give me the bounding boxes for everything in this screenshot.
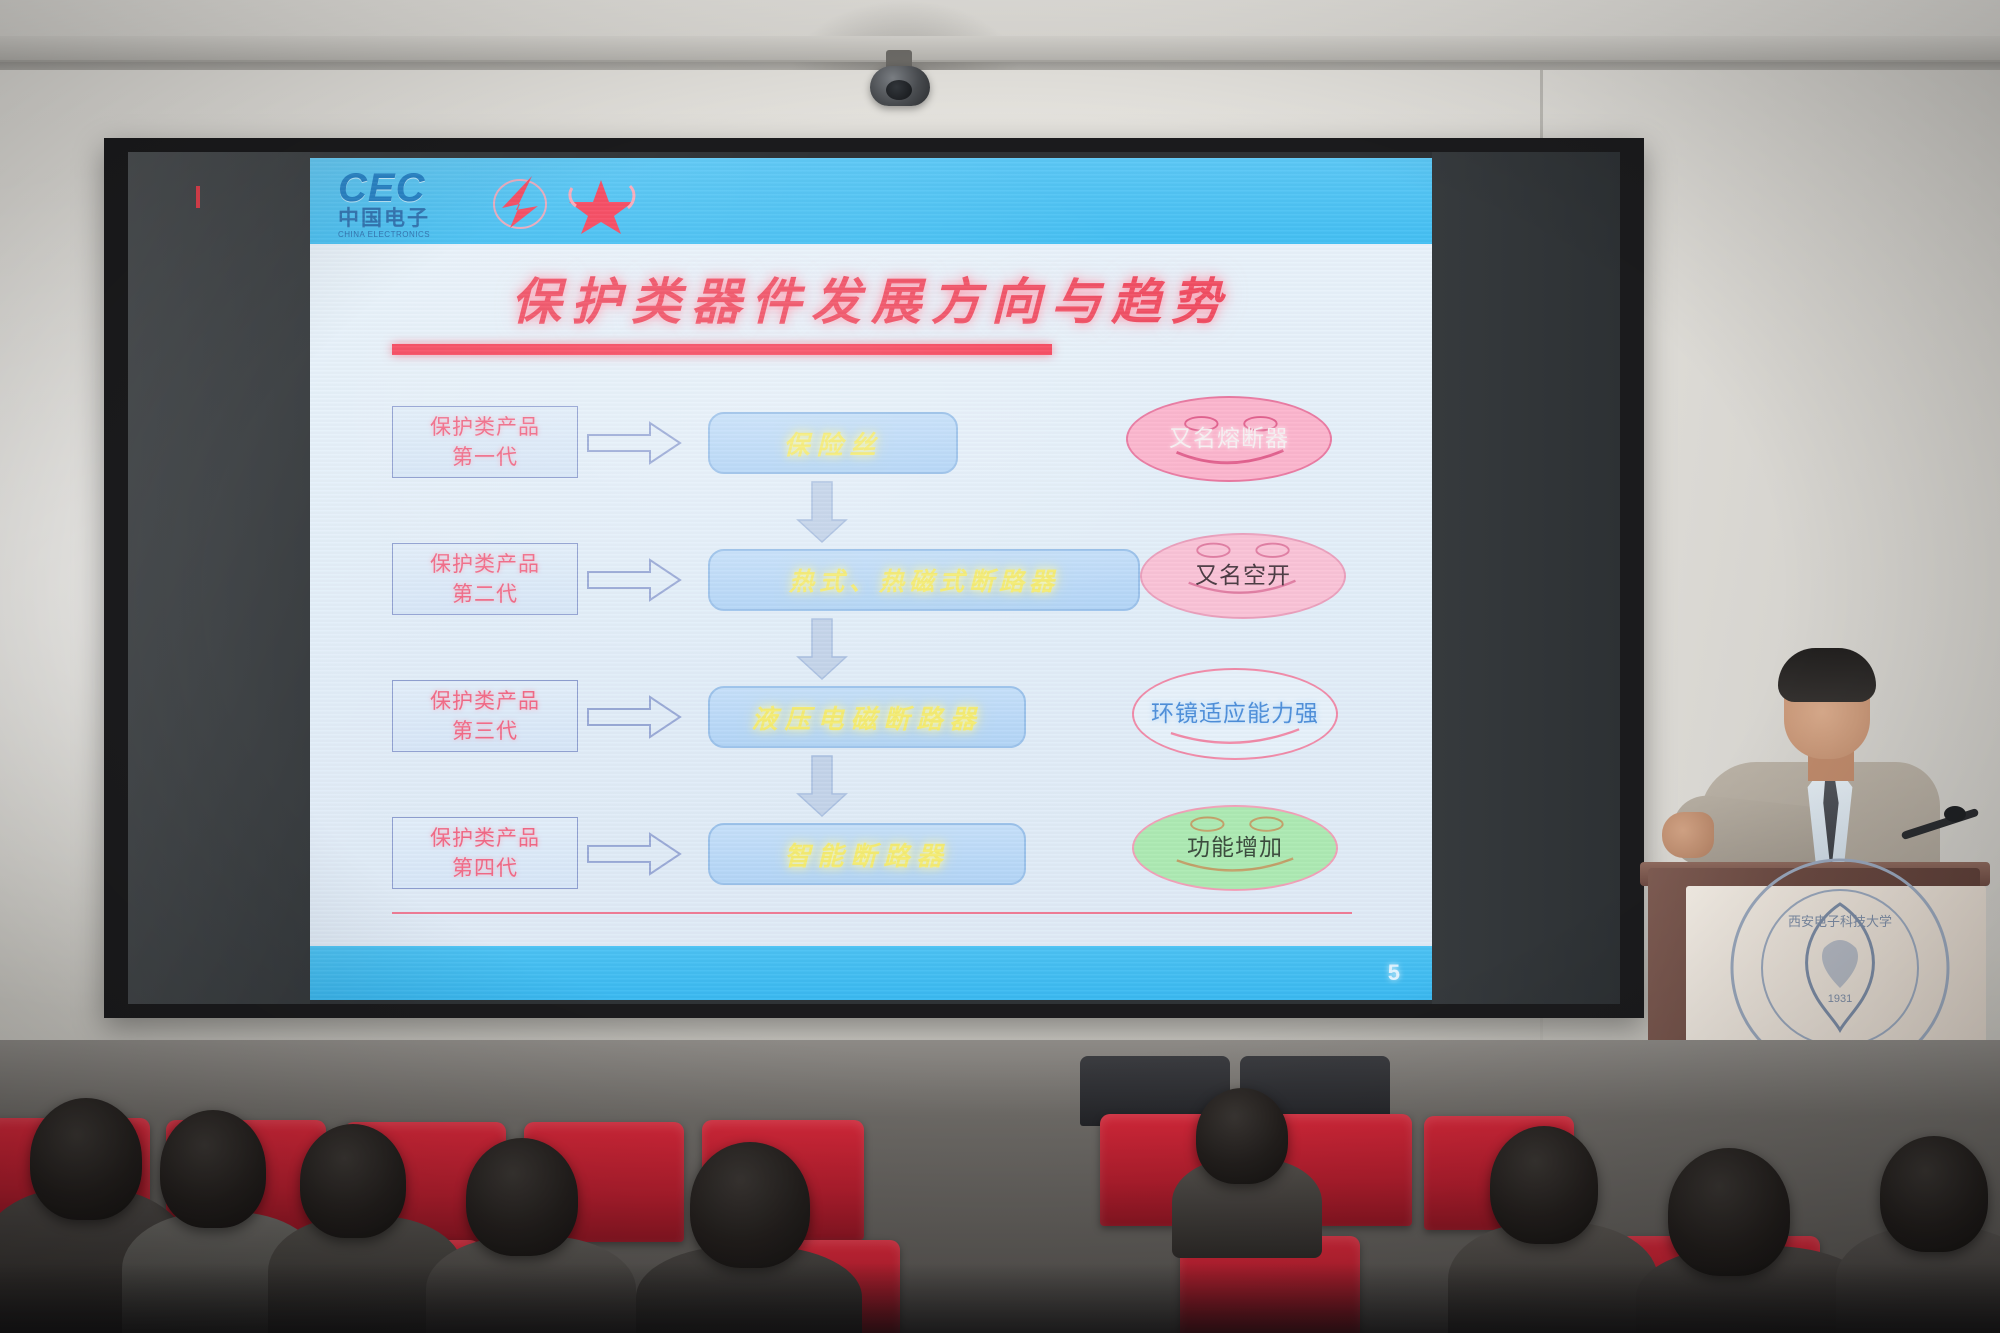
audience-head bbox=[1880, 1136, 1988, 1252]
cec-abbreviation: CEC bbox=[338, 168, 488, 208]
audience-head bbox=[300, 1124, 406, 1238]
cec-logo: CEC 中国电子 CHINA ELECTRONICS bbox=[338, 168, 488, 240]
stage-1-label: 保险丝 bbox=[783, 425, 882, 462]
audience-head bbox=[1668, 1148, 1790, 1276]
callout-3-label: 环镜适应能力强 bbox=[1151, 699, 1319, 729]
stage-box-1: 保险丝 bbox=[708, 412, 958, 474]
stage-2-label: 热式、热磁式断路器 bbox=[789, 562, 1059, 598]
presenter-hand bbox=[1662, 812, 1714, 858]
callout-1-label: 又名熔断器 bbox=[1169, 424, 1289, 454]
svg-text:西安电子科技大学: 西安电子科技大学 bbox=[1788, 914, 1892, 930]
screen-margin-left bbox=[128, 152, 310, 1004]
slide-bottom-rule bbox=[392, 912, 1352, 914]
generation-4-line1: 保护类产品 bbox=[430, 823, 540, 853]
slide-page-number: 5 bbox=[1388, 960, 1400, 986]
arrow-right-2-icon bbox=[586, 557, 682, 603]
lecture-hall-scene: CEC 中国电子 CHINA ELECTRONICS 保护类器件发展方向与趋势 … bbox=[0, 0, 2000, 1333]
audience-head bbox=[1196, 1088, 1288, 1184]
callout-2-label: 又名空开 bbox=[1195, 561, 1291, 591]
audience-head bbox=[466, 1138, 578, 1256]
stage-box-2: 热式、热磁式断路器 bbox=[708, 549, 1140, 611]
stage-4-label: 智能断路器 bbox=[784, 836, 949, 873]
generation-1-line2: 第一代 bbox=[452, 442, 518, 472]
generation-box-2: 保护类产品 第二代 bbox=[392, 543, 578, 615]
audience-head bbox=[30, 1098, 142, 1220]
generation-4-line2: 第四代 bbox=[452, 853, 518, 883]
stage-box-3: 液压电磁断路器 bbox=[708, 686, 1026, 748]
stage-3-label: 液压电磁断路器 bbox=[751, 699, 982, 736]
swoosh-logo-icon bbox=[486, 170, 564, 232]
screen-red-marker bbox=[196, 186, 200, 208]
arrow-right-4-icon bbox=[586, 831, 682, 877]
presentation-slide: CEC 中国电子 CHINA ELECTRONICS 保护类器件发展方向与趋势 … bbox=[310, 158, 1432, 1000]
generation-box-3: 保护类产品 第三代 bbox=[392, 680, 578, 752]
ceiling-beam bbox=[0, 36, 2000, 62]
title-underline-rule bbox=[392, 344, 1052, 355]
svg-text:1931: 1931 bbox=[1828, 993, 1852, 1005]
screen-margin-right bbox=[1432, 152, 1620, 1004]
generation-1-line1: 保护类产品 bbox=[430, 412, 540, 442]
red-star-icon bbox=[558, 172, 644, 234]
generation-2-line1: 保护类产品 bbox=[430, 549, 540, 579]
cec-chinese-name: 中国电子 bbox=[338, 208, 488, 230]
generation-3-line1: 保护类产品 bbox=[430, 686, 540, 716]
foreground-shadow bbox=[0, 1263, 2000, 1333]
camera-lens-icon bbox=[886, 80, 912, 100]
slide-footer-band bbox=[310, 946, 1432, 1000]
presenter-hair bbox=[1778, 648, 1876, 702]
generation-3-line2: 第三代 bbox=[452, 716, 518, 746]
microphone-head-icon bbox=[1944, 806, 1966, 822]
arrow-right-3-icon bbox=[586, 694, 682, 740]
audience-head bbox=[1490, 1126, 1598, 1244]
stage-box-4: 智能断路器 bbox=[708, 823, 1026, 885]
generation-box-1: 保护类产品 第一代 bbox=[392, 406, 578, 478]
slide-title: 保护类器件发展方向与趋势 bbox=[310, 262, 1432, 334]
callout-4: 功能增加 bbox=[1132, 805, 1338, 891]
arrow-right-1-icon bbox=[586, 420, 682, 466]
callout-4-label: 功能增加 bbox=[1187, 833, 1283, 863]
arrow-down-2-icon bbox=[796, 617, 848, 681]
generation-2-line2: 第二代 bbox=[452, 579, 518, 609]
arrow-down-1-icon bbox=[796, 480, 848, 544]
generation-box-4: 保护类产品 第四代 bbox=[392, 817, 578, 889]
arrow-down-3-icon bbox=[796, 754, 848, 818]
audience-area bbox=[0, 1040, 2000, 1333]
audience-head bbox=[690, 1142, 810, 1268]
audience-head bbox=[160, 1110, 266, 1228]
cec-english-name: CHINA ELECTRONICS bbox=[338, 230, 488, 240]
callout-1: 又名熔断器 bbox=[1126, 396, 1332, 482]
callout-3: 环镜适应能力强 bbox=[1132, 668, 1338, 760]
callout-2: 又名空开 bbox=[1140, 533, 1346, 619]
